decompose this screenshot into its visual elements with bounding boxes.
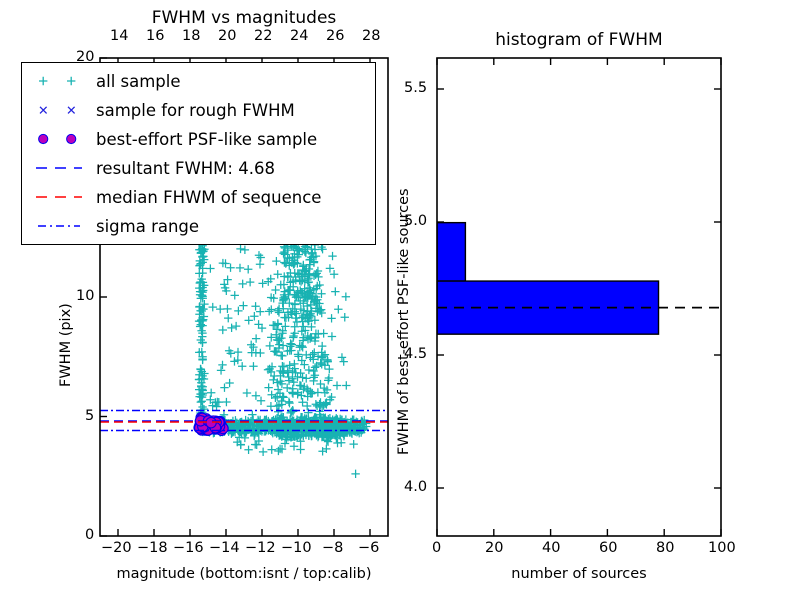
legend-label-psf-sample: best-effort PSF-like sample xyxy=(96,130,317,149)
legend-box: all sample sample for rough FWHM xyxy=(21,62,376,245)
left-xtick-top-6: 26 xyxy=(326,28,344,44)
right-xtick-1: 20 xyxy=(485,540,503,556)
right-xtick-4: 80 xyxy=(656,540,674,556)
circle-marker-icon xyxy=(28,126,90,152)
plus-icon xyxy=(28,68,90,94)
legend-label-resultant-fwhm: resultant FWHM: 4.68 xyxy=(96,159,275,178)
legend-item-resultant-fwhm[interactable]: resultant FWHM: 4.68 xyxy=(28,154,275,182)
blue-dashed-line-icon xyxy=(28,155,90,181)
right-ytick-3: 5.5 xyxy=(404,80,427,96)
left-xtick-top-5: 24 xyxy=(290,28,308,44)
left-xtick-top-1: 16 xyxy=(146,28,164,44)
legend-item-rough-sample[interactable]: sample for rough FWHM xyxy=(28,96,295,124)
legend-item-sigma-range[interactable]: sigma range xyxy=(28,212,199,240)
left-xtick-top-7: 28 xyxy=(362,28,380,44)
legend-label-median-fwhm: median FHWM of sequence xyxy=(96,188,321,207)
right-yaxis-label: FWHM of best-effort PSF-like sources xyxy=(396,188,412,455)
right-xtick-0: 0 xyxy=(432,540,441,556)
right-plot-title: histogram of FWHM xyxy=(437,30,721,50)
legend-label-all-sample: all sample xyxy=(96,72,181,91)
left-xtick-bottom-2: −16 xyxy=(173,540,204,556)
left-xtick-bottom-6: −8 xyxy=(322,540,343,556)
left-xtick-bottom-1: −18 xyxy=(137,540,168,556)
series-all-sample xyxy=(195,214,371,478)
legend-label-rough-sample: sample for rough FWHM xyxy=(96,101,295,120)
right-xtick-5: 100 xyxy=(708,540,736,556)
legend-label-sigma-range: sigma range xyxy=(96,217,199,236)
right-xtick-2: 40 xyxy=(542,540,560,556)
right-plot-data xyxy=(437,223,721,335)
red-dashed-line-icon xyxy=(28,184,90,210)
left-xtick-bottom-5: −10 xyxy=(281,540,312,556)
left-xtick-bottom-4: −12 xyxy=(245,540,276,556)
left-yaxis-label: FWHM (pix) xyxy=(58,303,74,387)
figure-canvas: FWHM vs magnitudes 14 16 18 20 22 24 26 … xyxy=(0,0,800,600)
right-plot-axes xyxy=(437,58,721,536)
left-ytick-0: 0 xyxy=(85,527,94,543)
histogram-bar xyxy=(437,223,465,281)
histogram-bars xyxy=(437,223,659,335)
left-ytick-5: 5 xyxy=(85,408,94,424)
left-xtick-top-4: 22 xyxy=(254,28,272,44)
left-xaxis-bottom-ticks xyxy=(118,529,370,536)
cross-icon xyxy=(28,97,90,123)
legend-item-all-sample[interactable]: all sample xyxy=(28,67,181,95)
left-xaxis-label: magnitude (bottom:isnt / top:calib) xyxy=(100,566,388,582)
left-xtick-bottom-7: −6 xyxy=(358,540,379,556)
left-ytick-10: 10 xyxy=(76,288,94,304)
legend-item-psf-sample[interactable]: best-effort PSF-like sample xyxy=(28,125,317,153)
left-xtick-bottom-3: −14 xyxy=(209,540,240,556)
legend-item-median-fwhm[interactable]: median FHWM of sequence xyxy=(28,183,321,211)
left-xtick-bottom-0: −20 xyxy=(101,540,132,556)
left-xtick-top-3: 20 xyxy=(218,28,236,44)
left-xtick-top-2: 18 xyxy=(182,28,200,44)
left-plot-title: FWHM vs magnitudes xyxy=(100,8,388,28)
left-xtick-top-0: 14 xyxy=(110,28,128,44)
right-xaxis-label: number of sources xyxy=(437,566,721,582)
left-plot-data xyxy=(100,214,388,478)
right-xtick-3: 60 xyxy=(599,540,617,556)
blue-dashdot-line-icon xyxy=(28,213,90,239)
right-ytick-0: 4.0 xyxy=(404,479,427,495)
